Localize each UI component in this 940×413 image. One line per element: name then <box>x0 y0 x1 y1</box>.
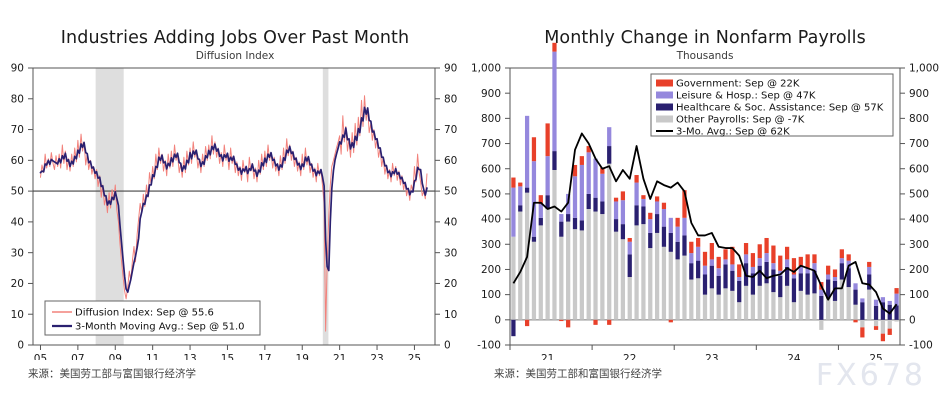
bar-segment <box>573 229 577 320</box>
bar-segment <box>532 137 536 161</box>
bar-segment <box>894 288 898 294</box>
bar-segment <box>593 198 597 212</box>
y-axis-label-right: 10 <box>444 309 457 321</box>
bar-segment <box>641 207 645 225</box>
bar-segment <box>628 242 632 255</box>
bar-segment <box>758 286 762 320</box>
bar-segment <box>710 288 714 319</box>
bar-segment <box>621 239 625 320</box>
y-axis-label-right: 800 <box>909 113 929 125</box>
bar-segment <box>717 295 721 320</box>
bar-segment <box>607 164 611 320</box>
y-axis-label-right: 80 <box>444 93 457 105</box>
y-axis-label-right: 700 <box>909 138 929 150</box>
bar-segment <box>792 278 796 302</box>
bar-segment <box>874 320 878 326</box>
bar-segment <box>771 246 775 264</box>
bar-segment <box>860 320 864 328</box>
bar-segment <box>628 238 632 242</box>
y-axis-label-right: 200 <box>909 264 929 276</box>
bar-segment <box>621 224 625 239</box>
y-axis-label-left: 50 <box>11 186 24 198</box>
bar-segment <box>525 320 529 326</box>
y-axis-label-left: 800 <box>481 113 501 125</box>
y-axis-label-right: -100 <box>909 340 933 352</box>
bar-segment <box>710 266 714 289</box>
bar-segment <box>559 320 563 321</box>
bar-segment <box>860 327 864 337</box>
bar-segment <box>532 237 536 242</box>
x-axis-label: 24 <box>787 353 801 360</box>
bar-segment <box>634 183 638 206</box>
bar-segment <box>744 254 748 263</box>
bar-segment <box>614 198 618 202</box>
legend-label: Leisure & Hosp.: Sep @ 47K <box>676 90 816 101</box>
bar-segment <box>614 201 618 219</box>
bar-segment <box>874 300 878 306</box>
bar-segment <box>559 222 563 237</box>
y-axis-label-right: 50 <box>444 186 457 198</box>
x-axis-label: 13 <box>183 353 196 360</box>
y-axis-label-right: 30 <box>444 247 457 259</box>
bar-segment <box>532 242 536 320</box>
bar-segment <box>676 242 680 260</box>
bar-segment <box>710 243 714 259</box>
bar-segment <box>806 273 810 294</box>
bar-segment <box>730 291 734 320</box>
bar-segment <box>648 219 652 233</box>
legend-swatch <box>656 92 673 99</box>
bar-segment <box>778 256 782 271</box>
bar-segment <box>819 296 823 320</box>
y-axis-label-left: 600 <box>481 163 501 175</box>
bar-segment <box>539 218 543 226</box>
left-chart-canvas: 0010102020303040405050606070708080909005… <box>0 0 470 360</box>
bar-segment <box>648 213 652 219</box>
bar-segment <box>662 227 666 247</box>
right-source-note: 来源：美国劳工部和富国银行经济学 <box>494 366 662 381</box>
bar-segment <box>593 212 597 320</box>
y-axis-label-right: 300 <box>909 239 929 251</box>
bar-segment <box>669 233 673 252</box>
y-axis-label-right: 500 <box>909 189 929 201</box>
bar-segment <box>717 276 721 295</box>
bar-segment <box>607 127 611 146</box>
bar-segment <box>737 302 741 320</box>
bar-segment <box>600 201 604 214</box>
bar-segment <box>628 254 632 277</box>
y-axis-label-right: 0 <box>444 340 451 352</box>
x-axis-label: 25 <box>408 353 421 360</box>
bar-segment <box>730 264 734 270</box>
bar-segment <box>696 278 700 320</box>
bar-segment <box>833 277 837 281</box>
right-chart-panel: Monthly Change in Nonfarm Payrolls Thous… <box>470 0 940 413</box>
bar-segment <box>703 266 707 275</box>
bar-segment <box>812 254 816 263</box>
bar-segment <box>881 297 885 302</box>
legend-label: 3-Month Moving Avg.: Sep @ 51.0 <box>75 322 245 333</box>
legend-swatch <box>656 80 673 87</box>
y-axis-label-left: 60 <box>11 155 24 167</box>
bar-segment <box>703 274 707 294</box>
bar-segment <box>532 161 536 237</box>
bar-segment <box>826 266 830 275</box>
legend-label: 3-Mo. Avg.: Sep @ 62K <box>676 126 790 137</box>
y-axis-label-left: 100 <box>481 289 501 301</box>
bar-segment <box>860 298 864 302</box>
bar-segment <box>785 259 789 267</box>
y-axis-label-left: 500 <box>481 189 501 201</box>
bar-segment <box>806 254 810 268</box>
bar-segment <box>894 320 898 322</box>
bar-segment <box>888 320 892 329</box>
bar-segment <box>546 156 550 195</box>
bar-segment <box>559 214 563 222</box>
bar-segment <box>799 291 803 320</box>
bar-segment <box>614 219 618 232</box>
bar-segment <box>833 301 837 320</box>
bar-segment <box>853 305 857 320</box>
y-axis-label-left: 300 <box>481 239 501 251</box>
bar-segment <box>676 227 680 242</box>
x-axis-label: 09 <box>109 353 122 360</box>
y-axis-label-right: 0 <box>909 314 916 326</box>
bar-segment <box>847 254 851 260</box>
bar-segment <box>552 151 556 170</box>
bar-segment <box>730 271 734 291</box>
x-axis-label: 15 <box>221 353 234 360</box>
y-axis-label-right: 400 <box>909 214 929 226</box>
bar-segment <box>703 252 707 266</box>
y-axis-label-left: 200 <box>481 264 501 276</box>
bar-segment <box>874 306 878 320</box>
y-axis-label-left: 0 <box>17 340 24 352</box>
x-axis-label: 21 <box>333 353 346 360</box>
x-axis-label: 23 <box>705 353 718 360</box>
bar-segment <box>785 247 789 260</box>
bar-segment <box>758 266 762 286</box>
bar-segment <box>847 287 851 320</box>
y-axis-label-right: 20 <box>444 278 457 290</box>
bar-segment <box>881 320 885 334</box>
bar-segment <box>751 253 755 267</box>
bar-segment <box>867 267 871 275</box>
bar-segment <box>689 280 693 320</box>
bar-segment <box>655 214 659 233</box>
y-axis-label-left: 0 <box>494 314 501 326</box>
y-axis-label-left: 30 <box>11 247 24 259</box>
bar-segment <box>792 302 796 320</box>
bar-segment <box>676 259 680 319</box>
bar-segment <box>607 320 611 325</box>
bar-segment <box>785 286 789 320</box>
y-axis-label-right: 40 <box>444 216 457 228</box>
bar-segment <box>669 252 673 320</box>
bar-segment <box>593 159 597 198</box>
x-axis-label: 07 <box>71 353 84 360</box>
bar-segment <box>539 204 543 218</box>
bar-segment <box>580 165 584 220</box>
bar-segment <box>641 195 645 199</box>
x-axis-label: 21 <box>541 353 554 360</box>
bar-segment <box>511 320 515 336</box>
bar-segment <box>634 175 638 183</box>
bar-segment <box>723 249 727 259</box>
legend-label: Government: Sep @ 22K <box>676 78 800 89</box>
bar-segment <box>587 209 591 320</box>
bar-segment <box>676 218 680 227</box>
bar-segment <box>655 196 659 201</box>
bar-segment <box>764 238 768 253</box>
bar-segment <box>744 243 748 254</box>
bar-segment <box>587 152 591 194</box>
bar-segment <box>751 295 755 320</box>
bar-segment <box>511 237 515 320</box>
x-axis-label: 05 <box>34 353 47 360</box>
bar-segment <box>764 262 768 283</box>
bar-segment <box>669 320 673 323</box>
bar-segment <box>566 214 570 222</box>
bar-segment <box>894 294 898 306</box>
bar-segment <box>655 233 659 320</box>
y-axis-label-left: 40 <box>11 216 24 228</box>
bar-segment <box>662 209 666 227</box>
x-axis-label: 17 <box>258 353 271 360</box>
bar-segment <box>812 293 816 319</box>
legend-label: Diffusion Index: Sep @ 55.6 <box>75 308 214 319</box>
bar-segment <box>655 201 659 214</box>
y-axis-label-left: 20 <box>11 278 24 290</box>
bar-segment <box>833 269 837 277</box>
y-axis-label-right: 100 <box>909 289 929 301</box>
bar-segment <box>648 248 652 320</box>
bar-segment <box>546 123 550 156</box>
y-axis-label-right: 1,000 <box>909 63 939 75</box>
bar-segment <box>682 235 686 255</box>
bar-segment <box>614 232 618 320</box>
bar-segment <box>799 273 803 291</box>
bar-segment <box>525 188 529 193</box>
y-axis-label-left: 80 <box>11 93 24 105</box>
bar-segment <box>840 258 844 263</box>
bar-segment <box>525 116 529 188</box>
bar-segment <box>607 146 611 164</box>
y-axis-label-right: 60 <box>444 155 457 167</box>
fx678-watermark: FX678 <box>816 358 926 393</box>
bar-segment <box>518 183 522 187</box>
bar-segment <box>703 295 707 320</box>
bar-segment <box>580 230 584 319</box>
legend-label: Other Payrolls: Sep @ -7K <box>676 114 805 125</box>
bar-segment <box>867 290 871 320</box>
bar-segment <box>758 258 762 266</box>
bar-segment <box>641 199 645 207</box>
bar-segment <box>689 242 693 253</box>
y-axis-label-left: -100 <box>477 340 501 352</box>
bar-segment <box>662 203 666 209</box>
bar-segment <box>764 283 768 320</box>
bar-segment <box>573 176 577 218</box>
bar-segment <box>853 320 857 323</box>
bar-segment <box>518 212 522 320</box>
bar-segment <box>717 257 721 268</box>
bar-segment <box>689 253 693 263</box>
left-chart-panel: Industries Adding Jobs Over Past Month D… <box>0 0 470 413</box>
y-axis-label-left: 400 <box>481 214 501 226</box>
bar-segment <box>771 269 775 292</box>
bar-segment <box>888 301 892 305</box>
bar-segment <box>840 249 844 258</box>
bar-segment <box>723 288 727 319</box>
y-axis-label-left: 10 <box>11 309 24 321</box>
bar-segment <box>552 52 556 151</box>
bar-segment <box>737 264 741 277</box>
x-axis-label: 19 <box>296 353 309 360</box>
bar-segment <box>662 247 666 320</box>
bar-segment <box>669 218 673 233</box>
bar-segment <box>696 247 700 261</box>
bar-segment <box>559 237 563 320</box>
bar-segment <box>641 224 645 320</box>
y-axis-label-left: 70 <box>11 124 24 136</box>
bar-segment <box>696 238 700 247</box>
y-axis-label-left: 90 <box>11 63 24 75</box>
bar-segment <box>860 302 864 320</box>
bar-segment <box>518 186 522 205</box>
bar-segment <box>826 274 830 279</box>
bar-segment <box>771 292 775 320</box>
x-axis-label: 22 <box>623 353 636 360</box>
bar-segment <box>511 178 515 188</box>
bar-segment <box>751 267 755 273</box>
bar-segment <box>764 253 768 262</box>
bar-segment <box>696 261 700 279</box>
left-source-note: 来源：美国劳工部与富国银行经济学 <box>28 366 196 381</box>
bar-segment <box>826 298 830 319</box>
bar-segment <box>580 156 584 165</box>
y-axis-label-right: 70 <box>444 124 457 136</box>
y-axis-label-left: 1,000 <box>471 63 501 75</box>
bar-segment <box>819 320 823 330</box>
bar-segment <box>723 264 727 288</box>
bar-segment <box>539 225 543 319</box>
bar-segment <box>587 194 591 209</box>
bar-segment <box>634 205 638 225</box>
bar-segment <box>778 276 782 297</box>
y-axis-label-left: 900 <box>481 88 501 100</box>
bar-segment <box>888 329 892 335</box>
x-axis-label: 23 <box>370 353 383 360</box>
legend-swatch <box>656 104 673 111</box>
bar-segment <box>758 244 762 258</box>
bar-segment <box>593 320 597 325</box>
y-axis-label-right: 90 <box>444 63 457 75</box>
bar-segment <box>552 43 556 52</box>
bar-segment <box>573 218 577 229</box>
bar-segment <box>648 233 652 248</box>
bar-segment <box>600 174 604 202</box>
bar-segment <box>874 326 878 330</box>
bar-segment <box>546 209 550 320</box>
bar-segment <box>580 220 584 230</box>
bar-segment <box>682 218 686 236</box>
right-chart-canvas: -100-10000100100200200300300400400500500… <box>470 0 940 360</box>
y-axis-label-right: 900 <box>909 88 929 100</box>
bar-segment <box>689 263 693 279</box>
bar-segment <box>737 277 741 281</box>
legend-label: Healthcare & Soc. Assistance: Sep @ 57K <box>676 102 884 113</box>
bar-segment <box>511 188 515 237</box>
bar-segment <box>744 286 748 320</box>
bar-segment <box>723 259 727 264</box>
bar-segment <box>518 205 522 211</box>
bar-segment <box>717 268 721 276</box>
bar-segment <box>682 256 686 320</box>
bar-segment <box>621 200 625 224</box>
bar-segment <box>792 274 796 278</box>
bar-segment <box>840 263 844 279</box>
y-axis-label-left: 700 <box>481 138 501 150</box>
y-axis-label-right: 600 <box>909 163 929 175</box>
bar-segment <box>566 320 570 328</box>
bar-segment <box>853 290 857 305</box>
bar-segment <box>552 170 556 320</box>
bar-segment <box>710 259 714 265</box>
bar-segment <box>806 295 810 320</box>
bar-segment <box>628 277 632 320</box>
bar-segment <box>778 297 782 320</box>
bar-segment <box>600 214 604 320</box>
bar-segment <box>634 225 638 319</box>
bar-segment <box>566 222 570 320</box>
bar-segment <box>853 283 857 289</box>
bar-segment <box>771 263 775 269</box>
legend-swatch <box>656 116 673 123</box>
bar-segment <box>867 262 871 267</box>
bar-segment <box>621 191 625 200</box>
bar-segment <box>737 281 741 302</box>
x-axis-label: 11 <box>146 353 159 360</box>
bar-segment <box>881 334 885 342</box>
